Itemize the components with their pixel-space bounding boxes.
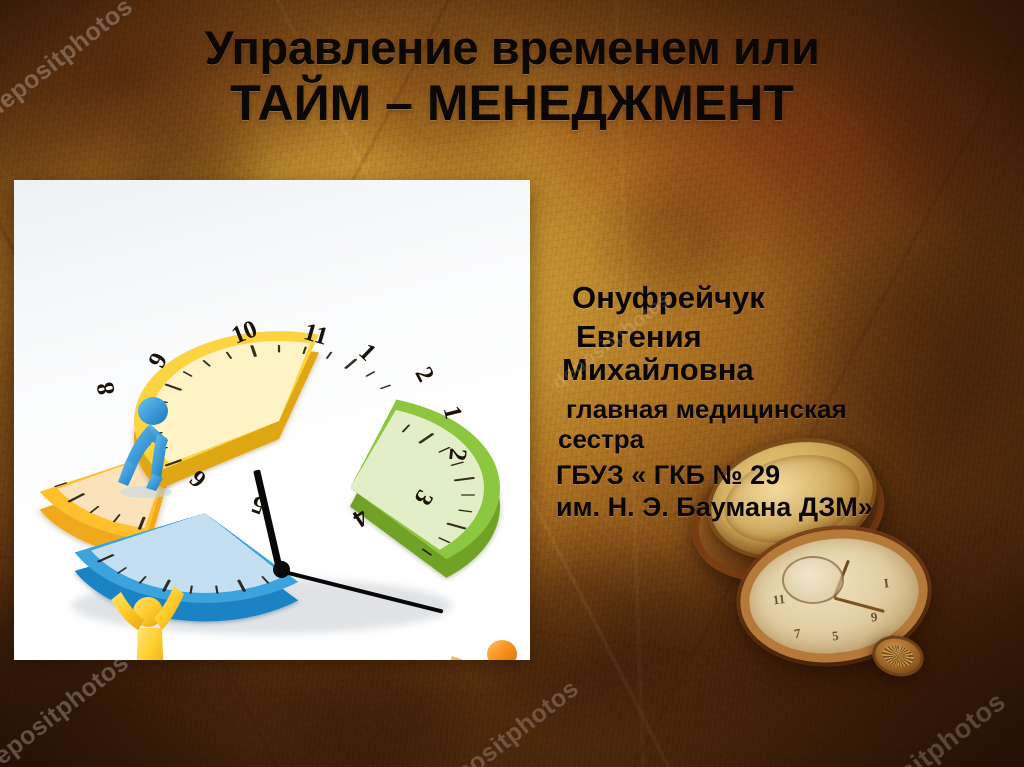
author-surname: Онуфрейчук <box>556 278 1008 318</box>
watch-numeral: 11 <box>772 591 786 608</box>
orange-figure <box>446 632 530 660</box>
author-org-line-2: им. Н. Э. Баумана ДЗМ» <box>556 492 1008 524</box>
presentation-slide: I 9 5 7 11 Управление временем или ТАЙМ … <box>0 0 1024 767</box>
author-role-line-2: сестра <box>556 425 1008 454</box>
author-firstname: Евгения <box>556 318 1008 356</box>
clock-center-hub <box>273 561 290 578</box>
pocket-watch-subdial <box>782 556 844 604</box>
illustration-panel: 9 10 11 1 2 1 2 3 4 5 6 7 8 <box>14 180 530 660</box>
blue-figure <box>108 394 186 498</box>
title-line-1: Управление временем или <box>36 24 988 72</box>
slide-title: Управление временем или ТАЙМ – МЕНЕДЖМЕН… <box>36 24 988 129</box>
watch-numeral: 7 <box>793 625 801 642</box>
author-patronymic: Михайловна <box>556 353 1008 387</box>
author-role-line-1: главная медицинская <box>556 394 1008 426</box>
author-info-block: Онуфрейчук Евгения Михайловна главная ме… <box>556 278 1008 524</box>
watch-numeral: I <box>883 576 890 592</box>
watch-numeral: 9 <box>870 609 878 626</box>
title-line-2: ТАЙМ – МЕНЕДЖМЕНТ <box>36 78 988 129</box>
pie-clock-illustration: 9 10 11 1 2 1 2 3 4 5 6 7 8 <box>14 180 530 660</box>
author-org-line-1: ГБУЗ « ГКБ № 29 <box>556 458 1008 492</box>
yellow-segment-face <box>150 341 408 501</box>
clock-numeral-2: 2 <box>444 447 470 462</box>
yellow-figure <box>108 572 190 660</box>
clock-numeral-12-b: 1 <box>439 403 466 421</box>
watch-numeral: 5 <box>831 628 839 645</box>
clock-numeral-12-a: 2 <box>410 363 438 386</box>
